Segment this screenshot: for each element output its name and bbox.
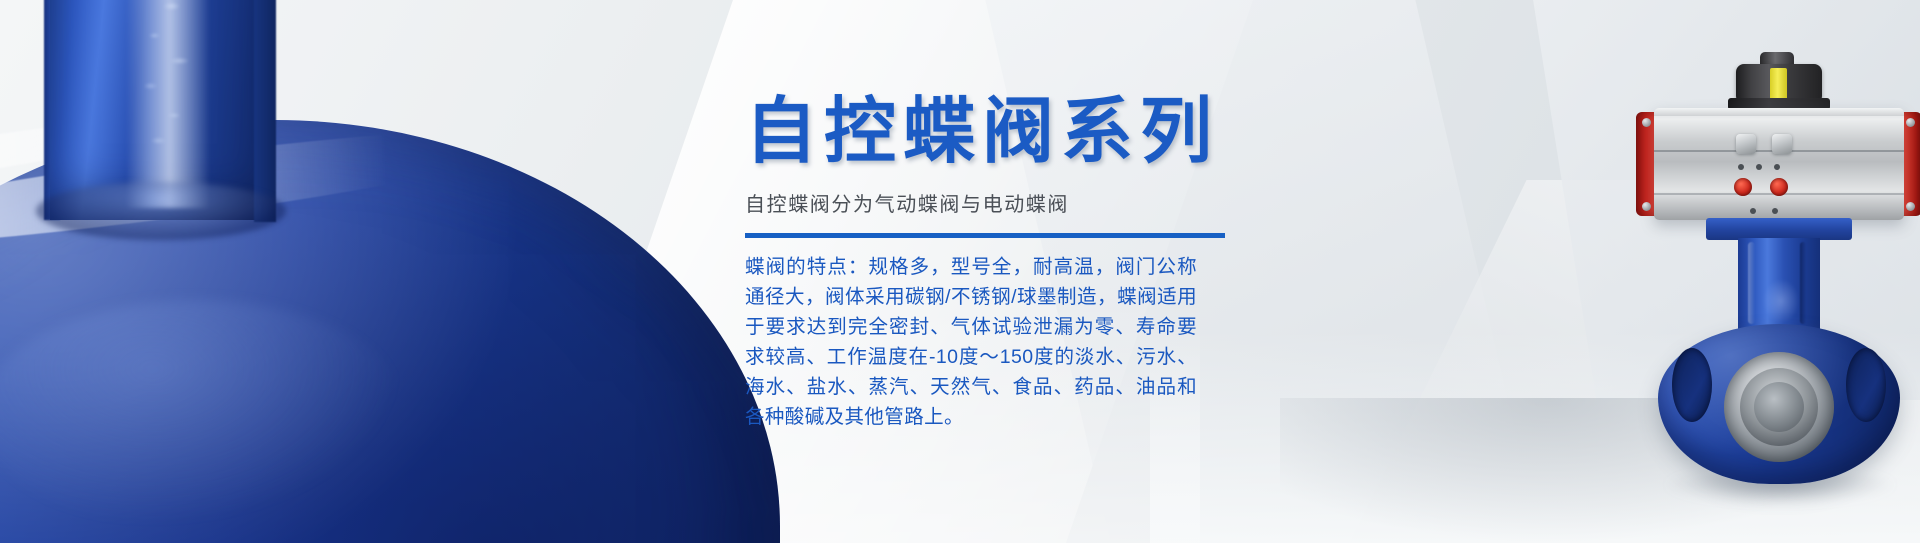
valve-stem-rib: [1748, 242, 1755, 324]
actuator-pilot-hole: [1774, 164, 1780, 170]
pneumatic-butterfly-valve-image: [1628, 52, 1920, 482]
valve-lug-right: [1846, 348, 1886, 422]
actuator-bolt: [1906, 202, 1915, 211]
blue-valve-closeup-image: [0, 0, 820, 543]
valve-closeup-gloss: [0, 300, 410, 530]
actuator-hex-bolt: [1736, 134, 1756, 154]
actuator-pilot-hole: [1772, 208, 1778, 214]
valve-closeup-neck-texture: [136, 0, 202, 170]
valve-cast-marking: [1762, 278, 1800, 324]
actuator-top-band: [1654, 108, 1904, 116]
valve-indicator-yellow-marker: [1770, 68, 1787, 102]
title-divider-rule: [745, 233, 1225, 238]
actuator-bolt: [1642, 118, 1651, 127]
actuator-air-port: [1770, 178, 1788, 196]
product-banner: 自控蝶阀系列 自控蝶阀分为气动蝶阀与电动蝶阀 蝶阀的特点：规格多，型号全，耐高温…: [0, 0, 1920, 543]
actuator-air-port: [1734, 178, 1752, 196]
valve-stem-rib: [1800, 242, 1806, 324]
valve-mounting-bracket: [1706, 218, 1852, 240]
banner-subtitle: 自控蝶阀分为气动蝶阀与电动蝶阀: [745, 188, 1445, 217]
banner-description: 蝶阀的特点：规格多，型号全，耐高温，阀门公称通径大，阀体采用碳钢/不锈钢/球墨制…: [745, 252, 1197, 432]
valve-disc: [1754, 382, 1804, 432]
actuator-bolt: [1642, 202, 1651, 211]
valve-closeup-neck-edge: [254, 0, 276, 222]
actuator-pilot-hole: [1750, 208, 1756, 214]
actuator-pilot-hole: [1756, 164, 1762, 170]
valve-closeup-joint: [36, 182, 286, 240]
actuator-hex-bolt: [1772, 134, 1792, 154]
banner-title: 自控蝶阀系列: [745, 96, 1445, 168]
valve-lug-left: [1672, 348, 1712, 422]
actuator-bolt: [1906, 118, 1915, 127]
banner-text-block: 自控蝶阀系列 自控蝶阀分为气动蝶阀与电动蝶阀 蝶阀的特点：规格多，型号全，耐高温…: [745, 96, 1445, 432]
actuator-pilot-hole: [1738, 164, 1744, 170]
